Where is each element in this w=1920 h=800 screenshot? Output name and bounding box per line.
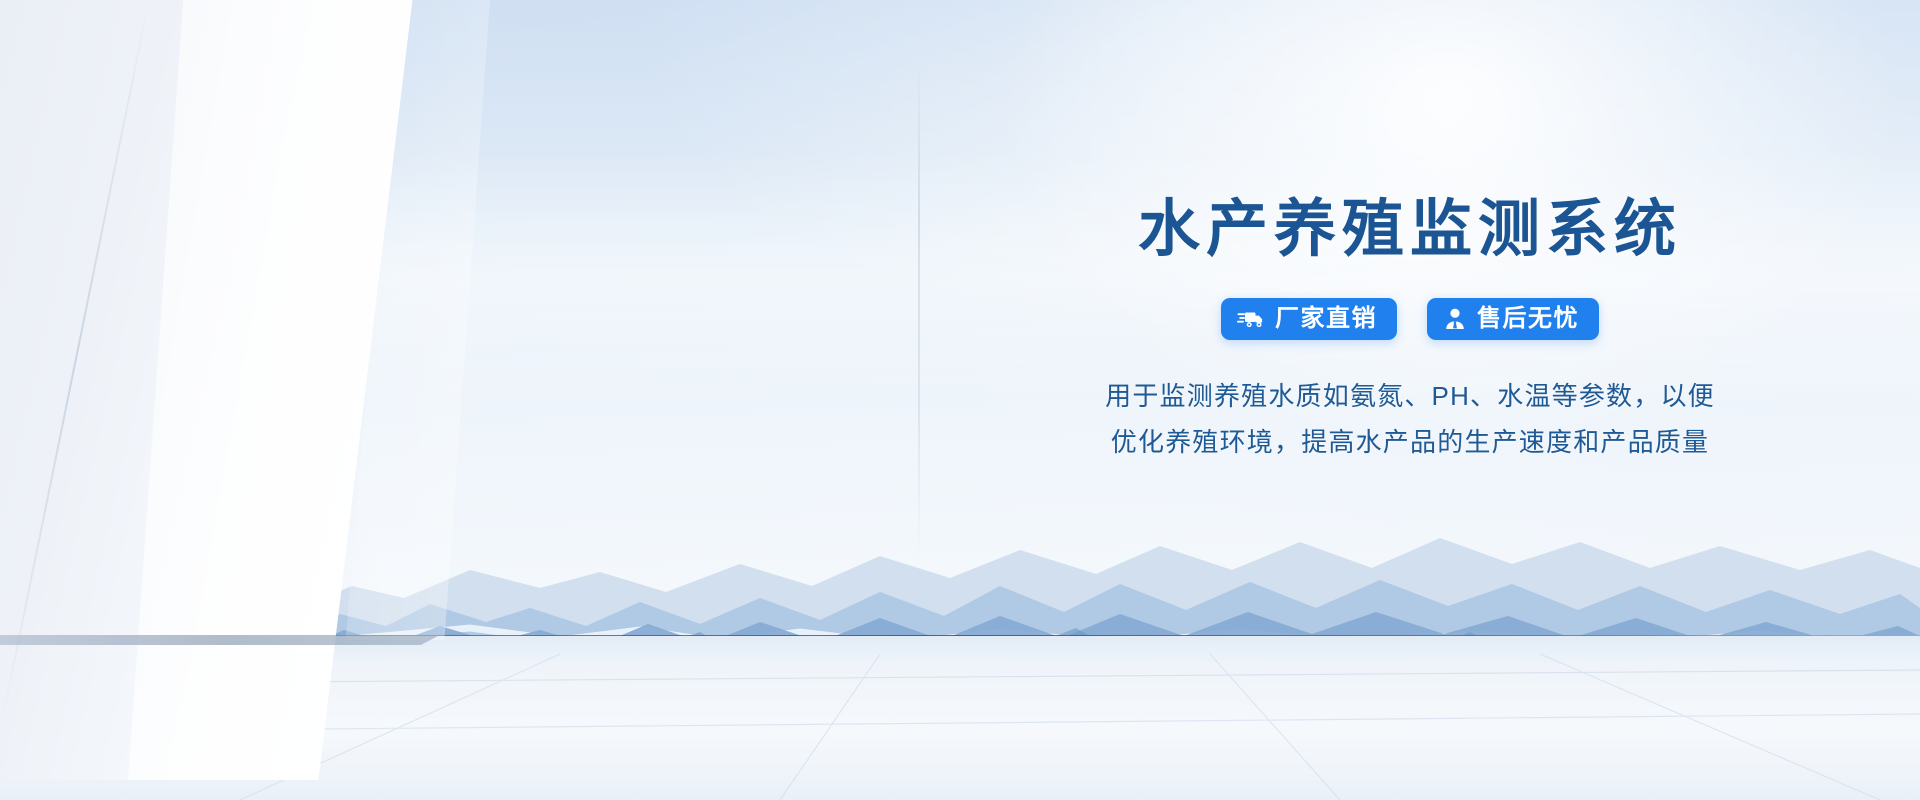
badge-label: 厂家直销 [1275, 307, 1377, 331]
glass-mullion [918, 60, 920, 560]
hero-banner: 水产养殖监测系统 厂家直销 [0, 0, 1920, 800]
badge-label: 售后无忧 [1477, 307, 1579, 331]
hero-content: 水产养殖监测系统 厂家直销 [970, 0, 1850, 800]
description-line-2: 优化养殖环境，提高水产品的生产速度和产品质量 [1105, 420, 1715, 466]
customer-service-icon [1443, 307, 1467, 331]
page-description: 用于监测养殖水质如氨氮、PH、水温等参数，以便 优化养殖环境，提高水产品的生产速… [1105, 374, 1715, 465]
truck-icon [1237, 308, 1265, 330]
wall-base-shadow [0, 635, 440, 645]
description-line-1: 用于监测养殖水质如氨氮、PH、水温等参数，以便 [1105, 374, 1715, 420]
badge-after-sales[interactable]: 售后无忧 [1427, 298, 1599, 340]
badge-factory-direct[interactable]: 厂家直销 [1221, 298, 1397, 340]
page-title: 水产养殖监测系统 [1138, 196, 1682, 264]
feature-badges: 厂家直销 售后无忧 [1221, 298, 1599, 340]
